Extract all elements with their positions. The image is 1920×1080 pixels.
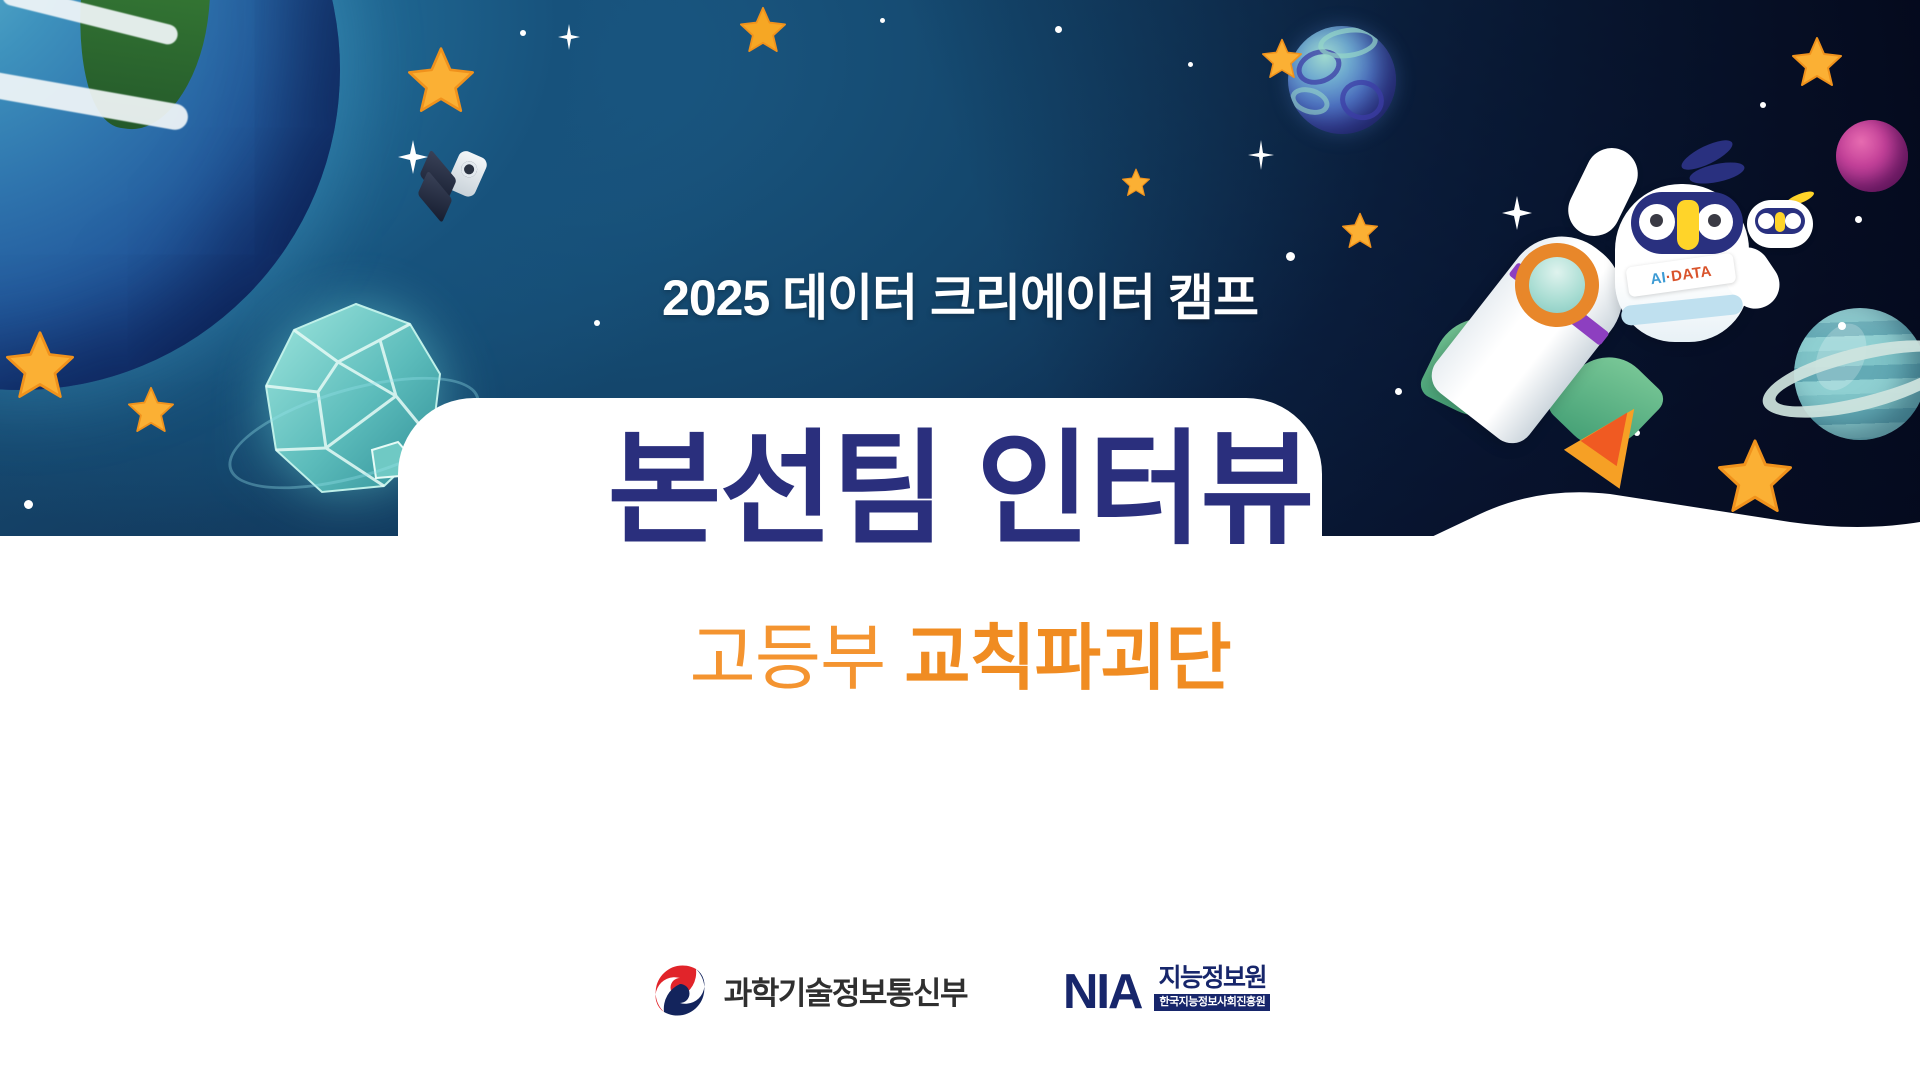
star-dot <box>1760 102 1766 108</box>
mascot-small-eye <box>1785 213 1801 229</box>
taegeuk-icon <box>650 960 710 1020</box>
nia-wordmark: NIA <box>1063 970 1141 1014</box>
planet-swirl-band <box>1336 76 1387 124</box>
nia-logo: NIA 지능정보원 한국지능정보사회진흥원 <box>1063 966 1270 1014</box>
orange-star-icon <box>1262 38 1302 78</box>
purple-planet-illustration <box>1836 120 1908 192</box>
star-dot <box>1188 62 1193 67</box>
mascot-eye <box>1639 204 1675 240</box>
mascot-small-beak <box>1775 212 1785 232</box>
mascot-pupil <box>1650 214 1663 227</box>
footer-logos: 과학기술정보통신부 NIA 지능정보원 한국지능정보사회진흥원 <box>0 955 1920 1025</box>
mascot-small-goggles <box>1755 208 1805 234</box>
subtitle-division: 고등부 <box>690 619 886 699</box>
mascot-goggles <box>1631 192 1743 254</box>
camp-title: 2025 데이터 크리에이터 캠프 <box>0 258 1920 330</box>
page-title: 본선팀 인터뷰 <box>0 424 1920 558</box>
planet-swirl-band <box>1288 82 1333 119</box>
orange-star-icon <box>6 330 74 398</box>
nia-korean-name: 지능정보원 <box>1159 966 1267 991</box>
subtitle-team-name: 교칙파괴단 <box>904 619 1230 699</box>
star-dot <box>520 30 526 36</box>
team-subtitle: 고등부 교칙파괴단 <box>0 620 1920 699</box>
poster-canvas: AI · DATA 2025 데이터 크리에이터 캠프 본선팀 인터뷰 <box>0 0 1920 1080</box>
star-dot <box>1055 26 1062 33</box>
ministry-name-text: 과학기술정보통신부 <box>724 968 967 1013</box>
orange-star-icon <box>740 6 786 52</box>
orange-star-icon <box>1122 168 1150 196</box>
nia-korean-block: 지능정보원 한국지능정보사회진흥원 <box>1154 966 1270 1014</box>
ministry-of-science-ict-logo: 과학기술정보통신부 <box>650 960 967 1020</box>
orange-star-icon <box>408 46 474 112</box>
mascot-beak <box>1677 200 1699 250</box>
orange-star-icon <box>1792 36 1842 86</box>
star-dot <box>1855 216 1862 223</box>
sparkle-icon <box>1248 140 1274 170</box>
mascot-pupil <box>1708 214 1721 227</box>
star-dot <box>1395 388 1402 395</box>
star-dot <box>880 18 885 23</box>
orange-star-icon <box>1342 212 1378 248</box>
nia-full-name: 한국지능정보사회진흥원 <box>1154 994 1270 1011</box>
mascot-eye <box>1697 204 1733 240</box>
swirl-planet-illustration <box>1288 26 1396 134</box>
ai-data-mascot-secondary <box>1741 194 1819 254</box>
mascot-small-eye <box>1758 213 1774 229</box>
sparkle-icon <box>398 140 428 174</box>
sparkle-icon <box>558 24 580 50</box>
